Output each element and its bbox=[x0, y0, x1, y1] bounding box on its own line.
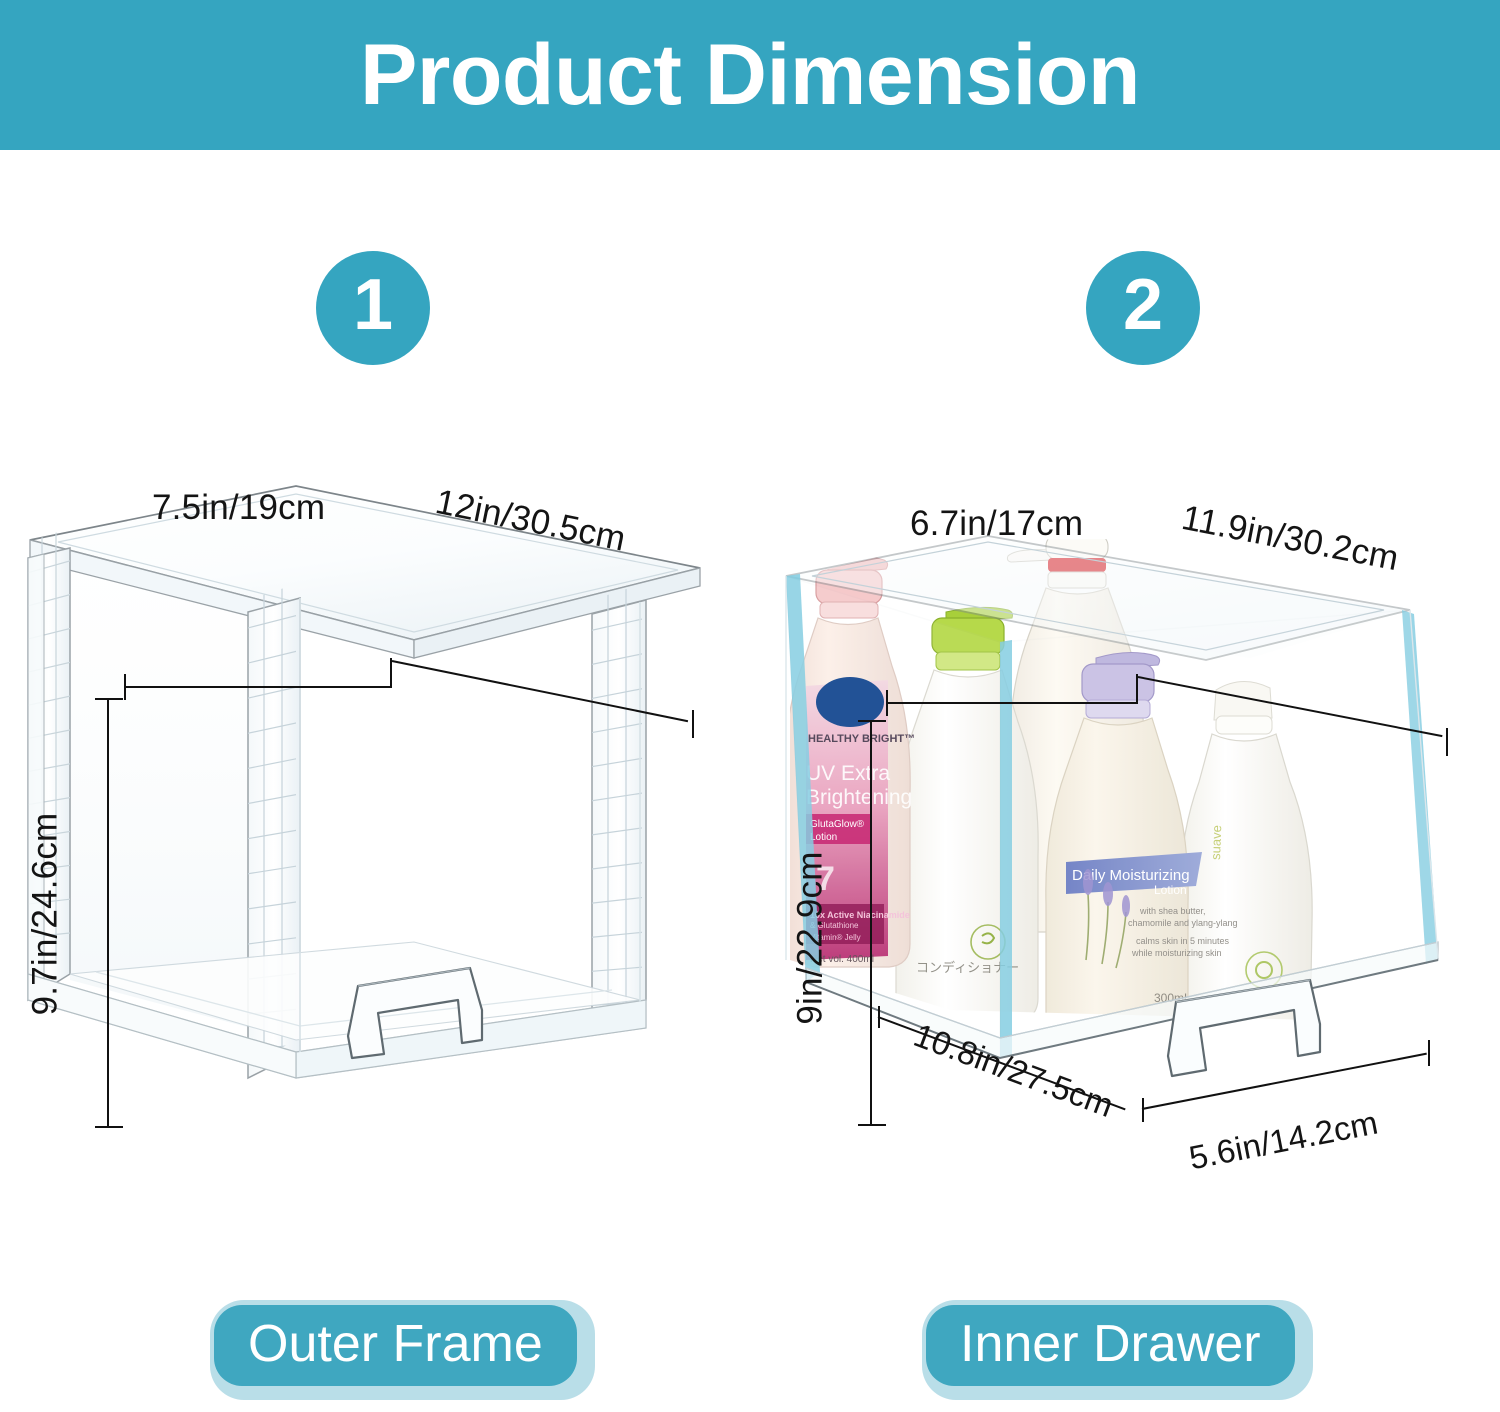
dim-tick-drawer-depth-right bbox=[1446, 728, 1448, 756]
product-dimension-infographic: Product Dimension 1 bbox=[0, 0, 1500, 1412]
dim-tick-drawer-height-top bbox=[858, 720, 886, 722]
dimension-label-width-outer: 7.5in/19cm bbox=[152, 488, 325, 528]
caption-pill-1: Outer Frame bbox=[214, 1305, 577, 1386]
dim-tick-height-top bbox=[95, 698, 123, 700]
page-title: Product Dimension bbox=[360, 32, 1140, 118]
dimension-label-height-drawer: 9in/22.9cm bbox=[791, 851, 831, 1024]
panel-outer-frame: 1 bbox=[0, 150, 750, 1412]
caption-pill-halo-1: Outer Frame bbox=[210, 1300, 595, 1400]
dim-tick-drawer-width-right bbox=[1136, 674, 1138, 704]
dim-line-width-drawer-top bbox=[886, 702, 1138, 704]
step-badge-1-number: 1 bbox=[353, 269, 393, 341]
dimension-label-height-outer: 9.7in/24.6cm bbox=[25, 813, 65, 1016]
step-badge-1: 1 bbox=[316, 251, 430, 365]
dimension-label-width-drawer: 6.7in/17cm bbox=[910, 504, 1083, 544]
dim-line-height-left bbox=[107, 698, 109, 1128]
dim-tick-depth-bottom-left bbox=[878, 1006, 880, 1028]
caption-inner-drawer: Inner Drawer bbox=[922, 1300, 1313, 1400]
outer-frame-illustration bbox=[0, 480, 750, 1180]
caption-pill-2: Inner Drawer bbox=[926, 1305, 1295, 1386]
dim-tick-width-bottom-left bbox=[1142, 1098, 1144, 1122]
dim-line-width-top-left bbox=[124, 686, 392, 688]
page-header: Product Dimension bbox=[0, 0, 1500, 150]
dim-tick-width-left bbox=[124, 674, 126, 700]
dim-tick-width-right bbox=[390, 658, 392, 688]
inner-drawer-illustration: suave bbox=[750, 490, 1500, 1210]
step-badge-2: 2 bbox=[1086, 251, 1200, 365]
caption-pill-halo-2: Inner Drawer bbox=[922, 1300, 1313, 1400]
dim-tick-drawer-width-left bbox=[886, 690, 888, 716]
dim-tick-width-bottom-right bbox=[1428, 1040, 1430, 1066]
caption-outer-frame: Outer Frame bbox=[210, 1300, 595, 1400]
caption-label-1: Outer Frame bbox=[248, 1318, 543, 1370]
dim-tick-height-bottom bbox=[95, 1126, 123, 1128]
dim-tick-drawer-height-bottom bbox=[858, 1124, 886, 1126]
panel-inner-drawer: 2 bbox=[750, 150, 1500, 1412]
dim-tick-depth-right bbox=[692, 710, 694, 738]
step-badge-2-number: 2 bbox=[1123, 269, 1163, 341]
dim-line-height-drawer bbox=[870, 720, 872, 1126]
caption-label-2: Inner Drawer bbox=[960, 1318, 1261, 1370]
